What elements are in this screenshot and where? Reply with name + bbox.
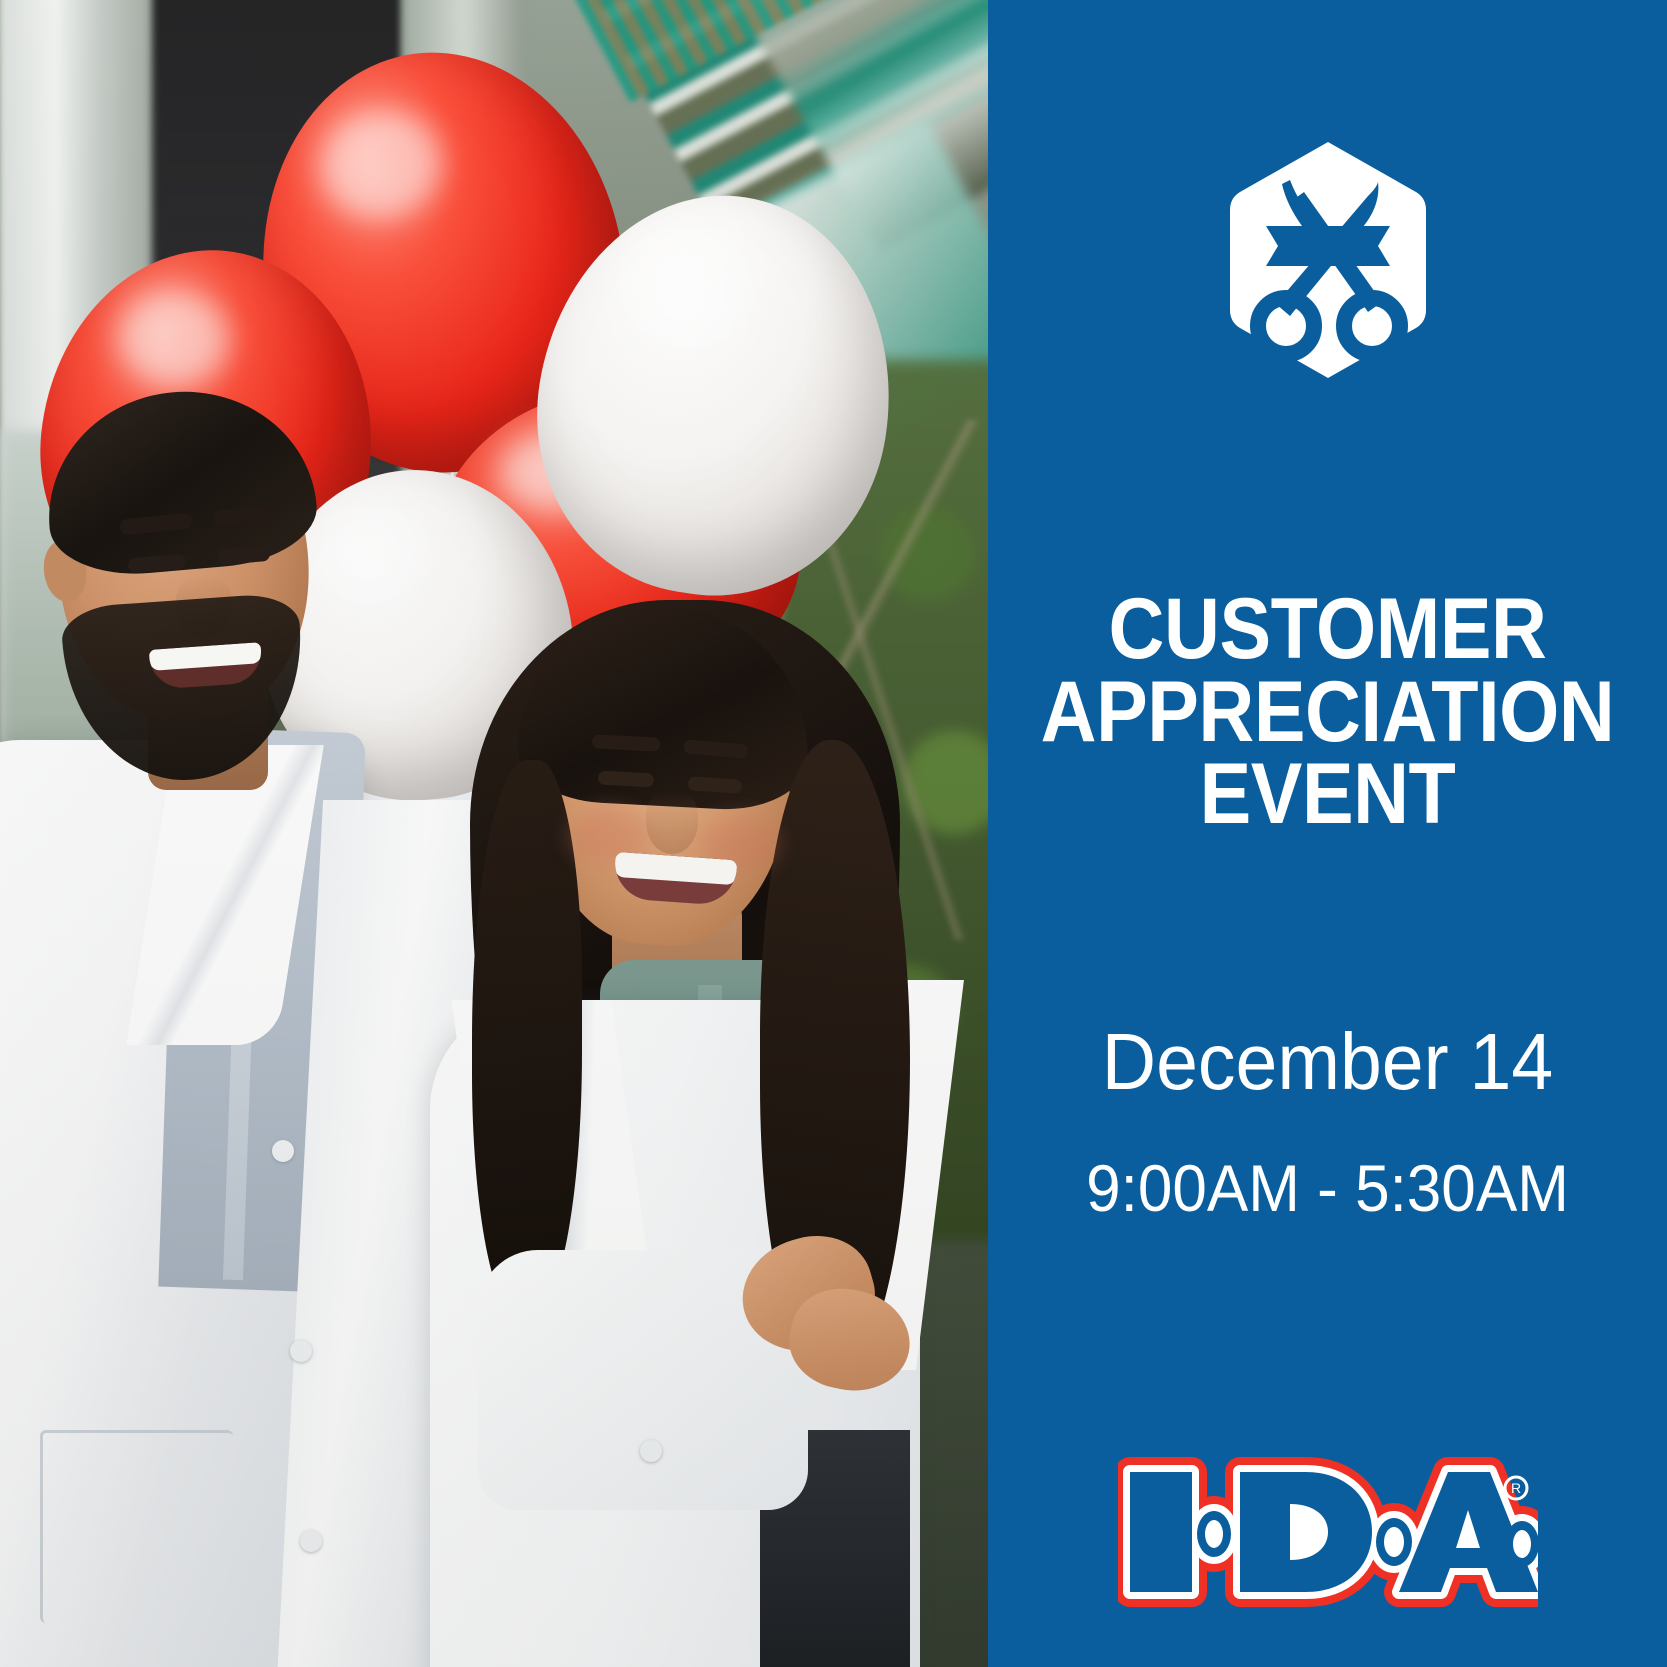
ribbon-cutting-scissors-hexagon-icon xyxy=(1230,140,1426,380)
svg-text:R: R xyxy=(1510,1480,1520,1496)
male-coat-button xyxy=(290,1340,312,1362)
male-coat-button xyxy=(300,1530,322,1552)
event-date: December 14 xyxy=(1008,1022,1646,1102)
event-time: 9:00AM - 5:30AM xyxy=(1008,1155,1646,1221)
female-eye-left xyxy=(598,771,655,788)
female-hair-strand-left xyxy=(472,760,582,1320)
event-photo xyxy=(0,0,988,1667)
promotional-poster: CUSTOMER APPRECIATION EVENT December 14 … xyxy=(0,0,1667,1667)
headline-line-2: APPRECIATION xyxy=(1022,671,1633,754)
headline-line-1: CUSTOMER xyxy=(1022,588,1633,671)
female-coat-button xyxy=(640,1440,662,1462)
event-headline: CUSTOMER APPRECIATION EVENT xyxy=(1022,588,1633,836)
info-panel: CUSTOMER APPRECIATION EVENT December 14 … xyxy=(988,0,1667,1667)
male-coat-button xyxy=(272,1140,294,1162)
ida-logo: I·D·A xyxy=(1118,1452,1538,1612)
female-nose xyxy=(646,790,698,854)
male-coat-pocket xyxy=(40,1430,233,1623)
headline-line-3: EVENT xyxy=(1022,753,1633,836)
